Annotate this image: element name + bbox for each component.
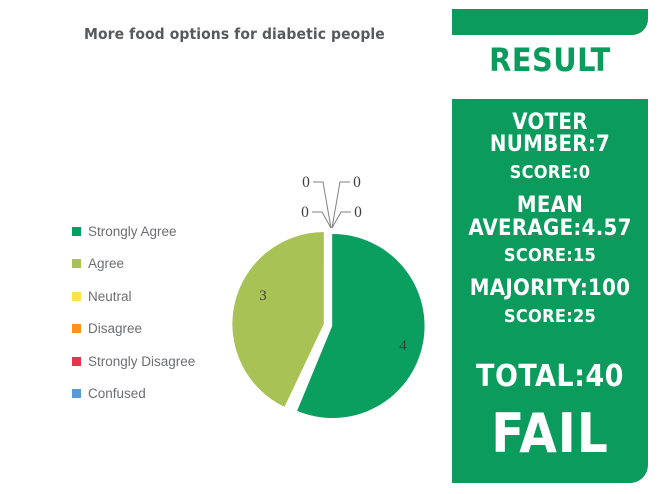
stat-total: TOTAL:40 xyxy=(452,362,648,393)
stat-voter-number: VOTER NUMBER:7 xyxy=(452,112,648,157)
result-title: RESULT xyxy=(452,44,648,76)
legend-swatch-icon xyxy=(72,324,81,333)
legend-label: Agree xyxy=(88,257,124,271)
chart-legend: Strongly Agree Agree Neutral Disagree St… xyxy=(72,215,252,410)
pie-chart: 4 3 0 0 0 0 xyxy=(228,150,428,425)
stat-score-voter: SCORE:0 xyxy=(452,164,648,182)
legend-swatch-icon xyxy=(72,259,81,268)
legend-swatch-icon xyxy=(72,389,81,398)
result-stats-box: VOTER NUMBER:7 SCORE:0 MEAN AVERAGE:4.57… xyxy=(452,99,648,483)
legend-item-disagree[interactable]: Disagree xyxy=(72,313,252,346)
legend-item-strongly-agree[interactable]: Strongly Agree xyxy=(72,215,252,248)
legend-label: Strongly Agree xyxy=(88,225,177,239)
pie-chart-svg: 4 3 0 0 0 0 xyxy=(228,150,428,425)
legend-swatch-icon xyxy=(72,227,81,236)
pie-label-zero-top-left: 0 xyxy=(302,174,310,191)
legend-swatch-icon xyxy=(72,357,81,366)
result-header-bar xyxy=(452,9,648,35)
chart-panel: More food options for diabetic people St… xyxy=(0,0,445,494)
legend-item-neutral[interactable]: Neutral xyxy=(72,280,252,313)
leader-line-top-right xyxy=(332,182,350,228)
leader-line-top-left xyxy=(313,182,331,228)
result-panel: RESULT VOTER NUMBER:7 SCORE:0 MEAN AVERA… xyxy=(452,0,648,494)
stat-verdict: FAIL xyxy=(452,407,648,461)
stat-score-mean: SCORE:15 xyxy=(452,247,648,265)
legend-item-agree[interactable]: Agree xyxy=(72,248,252,281)
legend-item-strongly-disagree[interactable]: Strongly Disagree xyxy=(72,345,252,378)
stat-score-majority: SCORE:25 xyxy=(452,308,648,326)
stat-mean-average: MEAN AVERAGE:4.57 xyxy=(452,195,648,240)
legend-label: Neutral xyxy=(88,290,132,304)
pie-label-agree: 3 xyxy=(259,288,267,304)
legend-label: Confused xyxy=(88,387,146,401)
legend-label: Strongly Disagree xyxy=(88,355,195,369)
pie-label-strongly-agree: 4 xyxy=(399,338,407,354)
legend-swatch-icon xyxy=(72,292,81,301)
legend-label: Disagree xyxy=(88,322,142,336)
pie-label-zero-bottom-left: 0 xyxy=(301,204,309,221)
legend-item-confused[interactable]: Confused xyxy=(72,378,252,411)
stat-majority: MAJORITY:100 xyxy=(452,278,648,300)
pie-label-zero-top-right: 0 xyxy=(353,174,361,191)
pie-label-zero-bottom-right: 0 xyxy=(354,204,362,221)
chart-title: More food options for diabetic people xyxy=(84,25,385,43)
